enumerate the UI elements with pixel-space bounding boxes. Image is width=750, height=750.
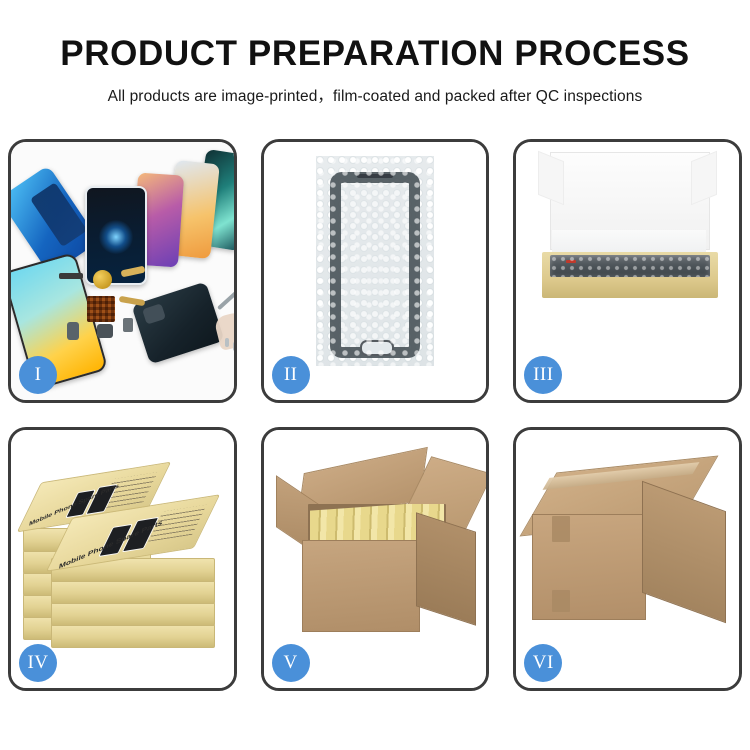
box-stack: Mobile Phone Spare Parts Mobile Phone Sp…: [17, 448, 233, 652]
label-mark: [566, 260, 576, 263]
component-coil: [93, 270, 112, 289]
box-slab: [51, 602, 215, 626]
component-battery: [67, 322, 79, 340]
phone-back-housing: [131, 281, 224, 364]
home-button: [360, 340, 394, 356]
kraft-box-body: [542, 252, 718, 298]
wrapped-screen-in-box: [550, 255, 710, 277]
process-step-grid: I II: [8, 139, 742, 691]
process-step-5[interactable]: V: [261, 427, 490, 691]
box-flap-left: [538, 151, 564, 206]
carton-seam-tab-bottom: [552, 590, 570, 612]
component-screw-1: [225, 338, 229, 347]
screen-glass-panel: [330, 172, 420, 358]
page-subtitle: All products are image-printed，film-coat…: [0, 84, 750, 106]
box-slab: [51, 624, 215, 648]
step-badge-2: II: [272, 356, 310, 394]
step-badge-5: V: [272, 644, 310, 682]
process-step-6[interactable]: VI: [513, 427, 742, 691]
sealed-carton-side: [642, 481, 726, 624]
process-step-3[interactable]: III: [513, 139, 742, 403]
page-title: PRODUCT PREPARATION PROCESS: [0, 36, 750, 73]
carton-side-face: [416, 512, 476, 625]
component-tweezers: [217, 290, 234, 310]
component-grid-chip: [87, 296, 115, 322]
sealed-carton-front: [532, 514, 646, 620]
component-screw-2: [233, 342, 234, 351]
process-step-2[interactable]: II: [261, 139, 490, 403]
process-step-4[interactable]: Mobile Phone Spare Parts Mobile Phone Sp…: [8, 427, 237, 691]
component-flex-cable-2: [119, 296, 146, 306]
process-step-1[interactable]: I: [8, 139, 237, 403]
carton-seam-tab-top: [552, 516, 570, 542]
step-badge-1: I: [19, 356, 57, 394]
product-preparation-infographic: PRODUCT PREPARATION PROCESS All products…: [0, 0, 750, 750]
bubble-wrap-sheet: [316, 156, 434, 366]
header: PRODUCT PREPARATION PROCESS All products…: [0, 0, 750, 106]
component-camera: [123, 318, 133, 332]
carton-front-face: [302, 540, 420, 632]
component-chip: [59, 273, 83, 279]
box-slab: [51, 580, 215, 604]
component-speaker: [97, 324, 113, 338]
step-badge-4: IV: [19, 644, 57, 682]
box-flap-right: [691, 151, 717, 206]
